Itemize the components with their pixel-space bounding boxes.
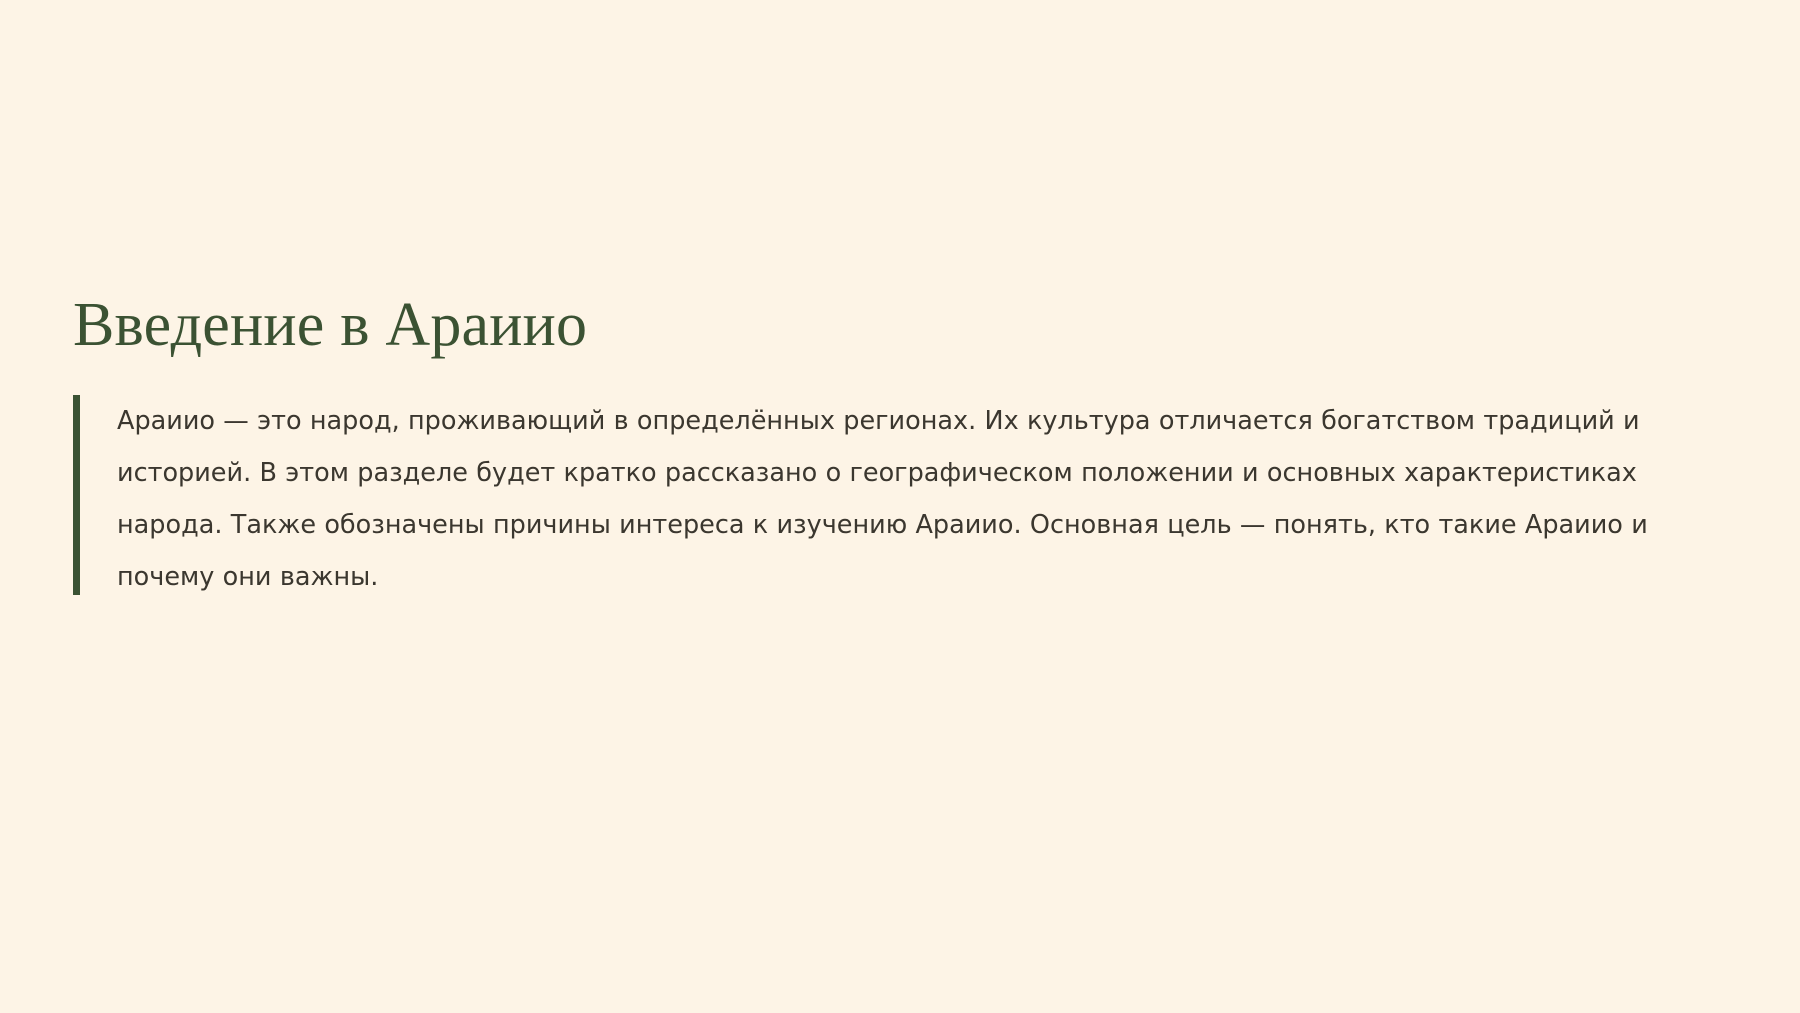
intro-paragraph: Араиио — это народ, проживающий в опреде… [117,395,1707,603]
document-page: Введение в Араиио Араиио — это народ, пр… [0,0,1800,1013]
content-container: Введение в Араиио Араиио — это народ, пр… [73,290,1713,603]
intro-callout-block: Араиио — это народ, проживающий в опреде… [73,395,1713,603]
accent-bar [73,395,80,595]
page-title: Введение в Араиио [73,290,1713,361]
